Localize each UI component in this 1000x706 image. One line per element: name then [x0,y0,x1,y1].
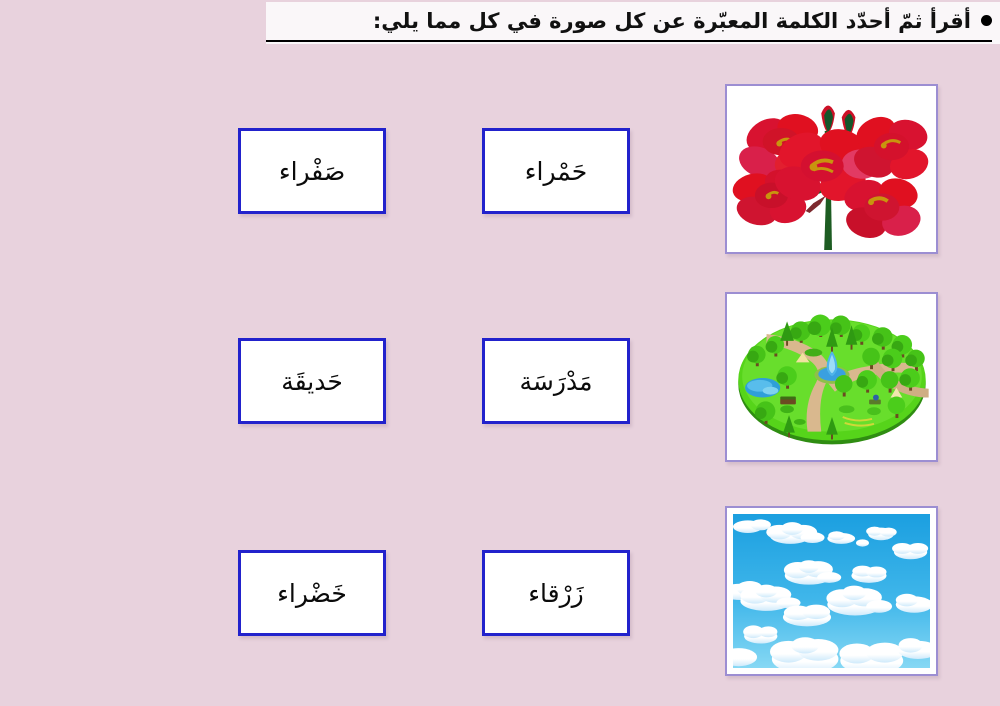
word-label: صَفْراء [279,157,345,186]
instruction-row: أقرأ ثمّ أحدّد الكلمة المعبّرة عن كل صور… [266,2,992,42]
word-label: حَمْراء [525,157,587,186]
word-box-yellow[interactable]: صَفْراء [238,128,386,214]
word-label: حَديقَة [281,367,343,396]
word-label: زَرْقاء [528,579,583,608]
park-garden-picture[interactable] [725,292,938,462]
red-flowers-picture[interactable] [725,84,938,254]
instruction-text: أقرأ ثمّ أحدّد الكلمة المعبّرة عن كل صور… [373,4,971,38]
blue-sky-clouds-picture[interactable] [725,506,938,676]
instruction-banner: أقرأ ثمّ أحدّد الكلمة المعبّرة عن كل صور… [266,2,1000,44]
word-label: مَدْرَسَة [520,367,593,396]
bullet-dot-icon [981,15,992,26]
red-flowers-illustration [727,86,936,252]
park-garden-canvas [727,294,936,460]
red-flowers-canvas [727,86,936,252]
blue-sky-clouds-canvas [733,514,930,668]
park-garden-illustration [727,294,936,460]
word-box-green[interactable]: خَضْراء [238,550,386,636]
word-label: خَضْراء [277,579,347,608]
word-box-school[interactable]: مَدْرَسَة [482,338,630,424]
blue-sky-clouds-illustration [733,514,930,668]
word-box-garden[interactable]: حَديقَة [238,338,386,424]
word-box-red[interactable]: حَمْراء [482,128,630,214]
word-box-blue[interactable]: زَرْقاء [482,550,630,636]
